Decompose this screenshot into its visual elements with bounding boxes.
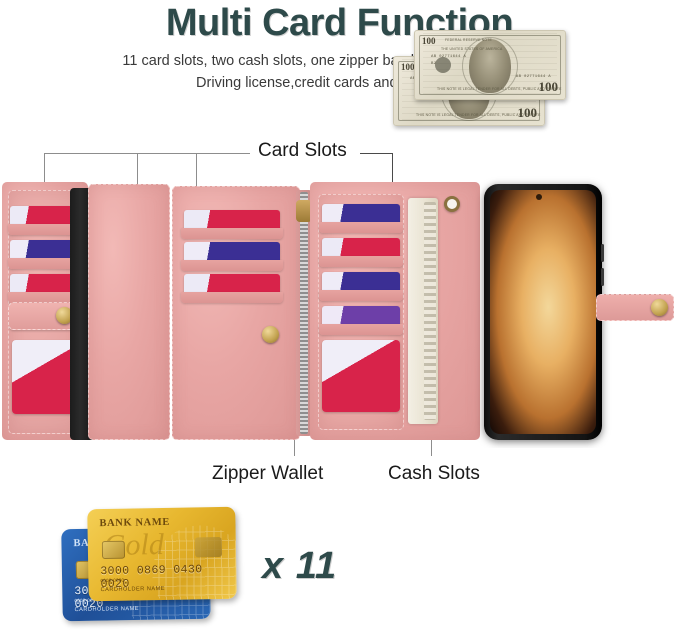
leader-line-card-slots-right (360, 153, 392, 154)
bank-card-blue-holder: CARDHOLDER NAME (75, 606, 139, 613)
bank-card-gold-sub: 0000-0000 (100, 578, 124, 583)
product-photo (0, 176, 679, 448)
wallet-mid-left-panel (88, 184, 170, 440)
bottom-assets: BANK NAME 3000 0869 0430 0020 0000-0000 … (0, 496, 679, 634)
bank-card-gold: Gold BANK NAME 3000 0869 0430 0020 0000-… (87, 507, 237, 602)
page-title: Multi Card Function (0, 2, 679, 45)
subtitle-line-1: 11 card slots, two cash slots, one zippe… (0, 50, 679, 72)
banknote-country: THE UNITED STATES OF AMERICA (441, 47, 502, 51)
snap-button (262, 326, 279, 343)
treasury-seal-icon (435, 57, 451, 73)
banknote-denomination-corner: 100 (422, 36, 436, 46)
page-subtitle: 11 card slots, two cash slots, one zippe… (0, 50, 679, 94)
banknote-legal: THIS NOTE IS LEGAL TENDER FOR ALL DEBTS,… (416, 113, 541, 117)
front-camera-icon (536, 194, 542, 200)
banknote-title: FEDERAL RESERVE NOTE (445, 38, 492, 42)
eyelet (444, 196, 460, 212)
leader-line-card-slots-left (44, 153, 250, 154)
bank-card-gold-holder: CARDHOLDER NAME (101, 586, 165, 593)
subtitle-line-2: Driving license,credit cards and several… (0, 72, 679, 94)
phone-button-volume-up[interactable] (601, 244, 604, 262)
banknote-legal: THIS NOTE IS LEGAL TENDER FOR ALL DEBTS,… (437, 87, 562, 91)
cash-slot-inner (424, 202, 436, 420)
infographic-page: Multi Card Function 11 card slots, two c… (0, 0, 679, 634)
slot-lip (319, 222, 403, 233)
callout-label-card-slots: Card Slots (258, 140, 347, 162)
phone-button-volume-down[interactable] (601, 268, 604, 286)
emv-chip-icon (102, 541, 125, 559)
callout-label-zipper-wallet: Zipper Wallet (212, 463, 323, 485)
phone-screen (490, 190, 596, 434)
slot-lip (319, 324, 403, 335)
id-window-card (12, 340, 78, 414)
callout-label-cash-slots: Cash Slots (388, 463, 480, 485)
zipper-teeth (300, 192, 308, 434)
slot-lip (181, 228, 283, 239)
slot-lip (319, 290, 403, 301)
banknote-serial: AB 02771644 A (431, 55, 466, 59)
banknote-front: 100 100 FEDERAL RESERVE NOTE THIS NOTE I… (414, 30, 566, 100)
banknote-denomination-corner: 100 (401, 62, 415, 72)
phone-device (484, 184, 602, 440)
banknote-serial-2: AB 02771644 A (516, 75, 551, 79)
multiplier-label: x 11 (262, 545, 337, 588)
slot-lip (181, 260, 283, 271)
snap-button-closure (651, 299, 668, 316)
slot-lip (319, 256, 403, 267)
id-window-card-right (322, 340, 400, 412)
banknote-plate: B2 (431, 62, 436, 66)
bank-card-gold-bank-name: BANK NAME (99, 517, 170, 529)
hologram-icon (195, 537, 222, 557)
slot-lip (181, 292, 283, 303)
